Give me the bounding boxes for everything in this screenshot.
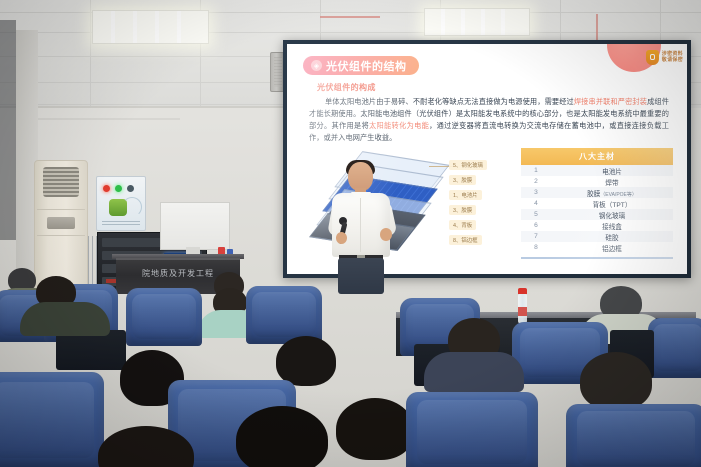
seat-shadow: [56, 330, 126, 370]
audience-head: [276, 336, 336, 386]
row-material: 钢化玻璃: [551, 210, 673, 220]
row-number: 7: [521, 233, 551, 240]
audience-head: [580, 352, 652, 410]
table-row: 7 硅胶: [521, 231, 673, 242]
slide-subtitle: 光伏组件的构成: [317, 82, 376, 93]
sprinkler-pipe-2: [320, 16, 380, 18]
row-material: 焊带: [551, 177, 673, 187]
ac-display-panel: [47, 217, 75, 229]
indicator-led-green: [115, 185, 122, 192]
audience-head: [236, 406, 328, 467]
slide-body-text: 单体太阳电池片由于易碎、不耐老化等缺点无法直接做为电源使用，需要经过焊接串并联和…: [309, 96, 669, 144]
presenter: [330, 162, 394, 294]
row-number: 8: [521, 244, 551, 251]
wall-trim: [0, 106, 283, 108]
logo-line-2: 敬请保密: [662, 58, 683, 63]
diagram-label-2: 1、电池片: [449, 190, 482, 200]
panel-label-text: [102, 221, 140, 225]
presenter-left-hand: [336, 232, 347, 244]
table-row: 5 钢化玻璃: [521, 209, 673, 220]
body-highlight-1: 焊接串并联和严密封装: [574, 97, 647, 106]
audience-shoulders: [20, 302, 110, 336]
row-number: 6: [521, 222, 551, 229]
table-row: 2 焊带: [521, 176, 673, 187]
bottle-label: [518, 307, 527, 316]
presenter-right-hand: [380, 228, 392, 241]
table-row: 4 背板（TPT）: [521, 198, 673, 209]
materials-table: 八大主材 1 电池片 2 焊带 3 胶膜（EVA/POE等） 4 背板（TPT）: [521, 148, 673, 253]
row-number: 3: [521, 189, 551, 196]
diagram-label-5: 8、铝边框: [449, 235, 482, 245]
row-material: 接线盒: [551, 221, 673, 231]
audience-head: [336, 398, 414, 460]
wall-trim-upper: [30, 118, 180, 120]
ceiling-light-left: [92, 10, 209, 44]
diagram-label-1: 3、胶膜: [449, 175, 476, 185]
table-header: 八大主材: [521, 148, 673, 165]
row-material: 硅胶: [551, 232, 673, 242]
row-number: 1: [521, 167, 551, 174]
body-part-1: 单体太阳电池片由于易碎、不耐老化等缺点无法直接做为电源使用，需要经过: [325, 97, 574, 106]
row-material: 背板（TPT）: [551, 199, 673, 209]
slide-title-pill: ◈ 光伏组件的结构: [303, 56, 419, 75]
table-row: 3 胶膜（EVA/POE等）: [521, 187, 673, 198]
table-bottom-rule: [521, 257, 673, 259]
row-material: 电池片: [551, 166, 673, 176]
panel-arc-graphic: [122, 197, 142, 217]
podium-monitor: [160, 202, 230, 250]
auditorium-seat: [0, 372, 104, 467]
table-row: 6 接线盒: [521, 220, 673, 231]
auditorium-seat: [406, 392, 538, 467]
slide-title: 光伏组件的结构: [326, 58, 407, 74]
row-number: 2: [521, 178, 551, 185]
diagram-label-4: 4、背板: [449, 220, 476, 230]
diagram-label-0: 5、钢化玻璃: [449, 160, 487, 170]
pv-module-exploded-diagram: 5、钢化玻璃 3、胶膜 1、电池片 3、胶膜 4、背板 8、铝边框 7、硅胶: [299, 156, 489, 268]
wall-control-panel[interactable]: [96, 176, 146, 231]
body-highlight-2: 太阳能转化为电能: [369, 121, 429, 130]
indicator-led-off: [127, 185, 134, 192]
table-row: 1 电池片: [521, 165, 673, 176]
audience-shoulders: [424, 352, 524, 392]
row-number: 4: [521, 200, 551, 207]
shield-lock-icon: [646, 50, 659, 65]
indicator-led-red: [103, 185, 110, 192]
row-material: 铝边框: [551, 243, 673, 253]
air-conditioner-unit: [34, 160, 88, 290]
table-row: 8 铝边框: [521, 242, 673, 253]
auditorium-seat: [648, 318, 701, 378]
confidential-logo: 涉密资料 敬请保密: [646, 50, 683, 65]
ceiling-light-right: [424, 8, 530, 36]
presenter-head: [348, 162, 373, 191]
presenter-shirt-placket: [360, 198, 361, 252]
row-material: 胶膜（EVA/POE等）: [551, 188, 673, 198]
presenter-trousers: [338, 258, 384, 294]
auditorium-seat: [126, 288, 202, 346]
auditorium-seat: [566, 404, 701, 467]
row-note: （EVA/POE等）: [600, 192, 637, 198]
diagram-label-3: 3、胶膜: [449, 205, 476, 215]
left-door-edge: [0, 20, 16, 240]
row-number: 5: [521, 211, 551, 218]
flame-icon: ◈: [311, 60, 322, 71]
lecture-room-photo: 院地质及开发工程 涉密资料 敬请保密 ◈ 光伏组件的结构 光伏组件的构成 单体太…: [0, 0, 701, 467]
ac-vent-grille: [43, 167, 79, 197]
